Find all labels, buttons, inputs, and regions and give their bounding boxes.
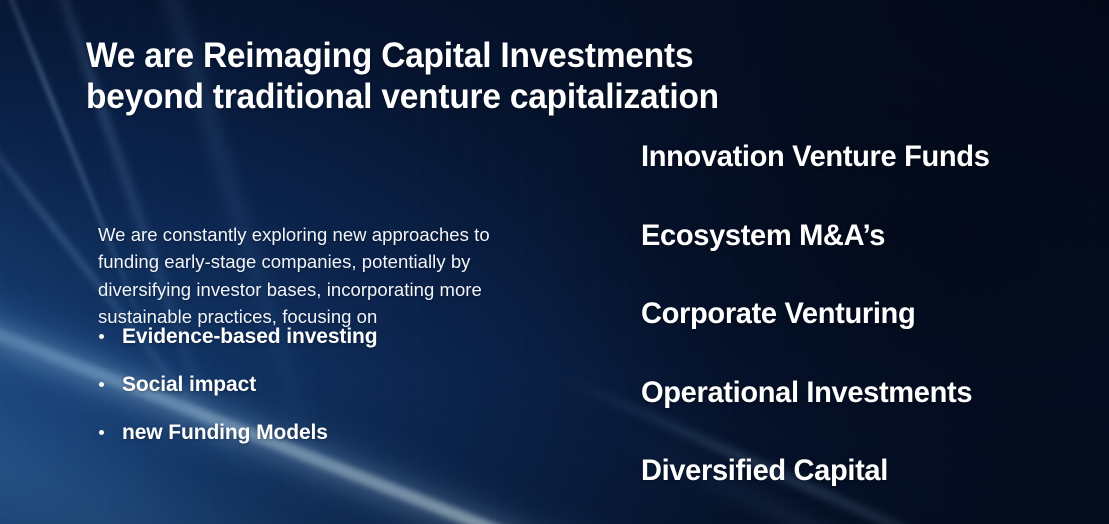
slide-body-paragraph: We are constantly exploring new approach…	[98, 221, 550, 331]
capital-approaches-list: Innovation Venture Funds Ecosystem M&A’s…	[641, 138, 1101, 524]
capital-approach-item: Diversified Capital	[641, 452, 1094, 524]
bullet-list-item-label: new Funding Models	[122, 421, 328, 444]
bullet-list: Evidence-based investing Social impact n…	[98, 322, 558, 466]
slide-title: We are Reimaging Capital Investments bey…	[86, 35, 850, 117]
slide-content: We are Reimaging Capital Investments bey…	[0, 0, 1109, 524]
bullet-list-item: new Funding Models	[98, 418, 558, 466]
presentation-slide: We are Reimaging Capital Investments bey…	[0, 0, 1109, 524]
capital-approach-item: Corporate Venturing	[641, 295, 1094, 374]
bullet-list-item-label: Social impact	[122, 373, 256, 396]
bullet-list-item-label: Evidence-based investing	[122, 325, 378, 348]
capital-approach-item: Operational Investments	[641, 374, 1094, 453]
bullet-dot-icon	[99, 334, 104, 339]
bullet-list-item: Social impact	[98, 370, 558, 418]
capital-approach-item: Innovation Venture Funds	[641, 138, 1094, 217]
bullet-list-item: Evidence-based investing	[98, 322, 558, 370]
capital-approach-item: Ecosystem M&A’s	[641, 217, 1094, 296]
bullet-dot-icon	[99, 430, 104, 435]
bullet-dot-icon	[99, 382, 104, 387]
